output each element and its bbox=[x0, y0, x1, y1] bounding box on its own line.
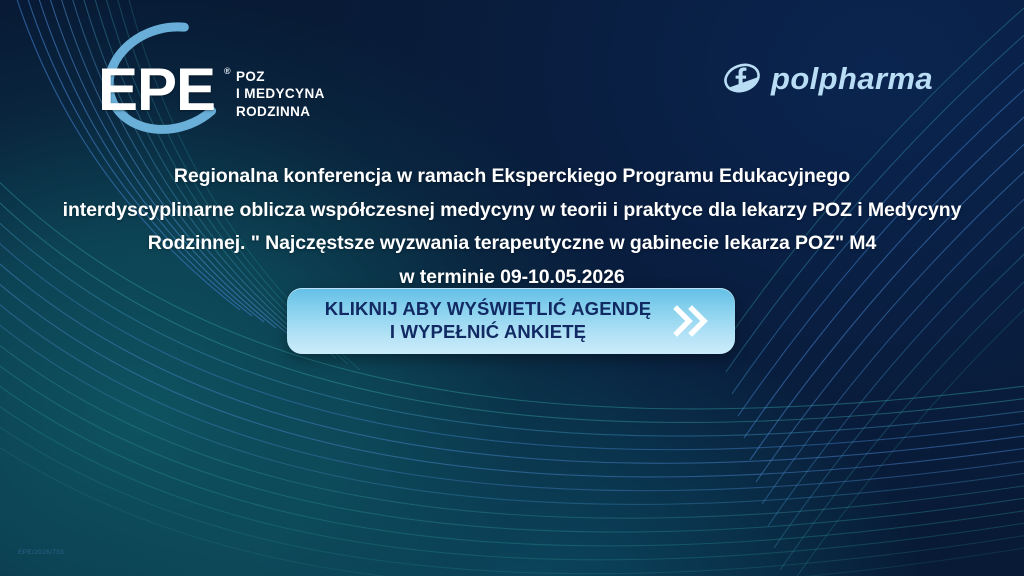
epe-logo: EPE ® POZ I MEDYCYNA RODZINNA bbox=[72, 22, 352, 142]
cta-button-label: KLIKNIJ ABY WYŚWIETLIĆ AGENDĘ I WYPEŁNIĆ… bbox=[309, 298, 667, 343]
headline-line-1: Regionalna konferencja w ramach Eksperck… bbox=[47, 160, 977, 194]
headline-line-2: interdyscyplinarne oblicza współczesnej … bbox=[47, 194, 977, 228]
epe-tagline: POZ I MEDYCYNA RODZINNA bbox=[236, 68, 325, 120]
show-agenda-and-survey-button[interactable]: KLIKNIJ ABY WYŚWIETLIĆ AGENDĘ I WYPEŁNIĆ… bbox=[287, 288, 735, 354]
conference-invitation-slide: EPE ® POZ I MEDYCYNA RODZINNA polpharma … bbox=[0, 0, 1024, 576]
cta-label-line2: I WYPEŁNIĆ ANKIETĘ bbox=[309, 321, 667, 344]
headline-line-3: Rodzinnej. " Najczęstsze wyzwania terape… bbox=[47, 227, 977, 261]
epe-tagline-line1: POZ bbox=[236, 69, 265, 84]
polpharma-logo: polpharma bbox=[722, 58, 933, 98]
material-reference-code: EPE/2026/733 bbox=[18, 549, 64, 556]
polpharma-wordmark: polpharma bbox=[771, 63, 933, 94]
epe-wordmark: EPE bbox=[98, 60, 215, 120]
epe-tagline-line2: I MEDYCYNA bbox=[236, 86, 325, 101]
epe-tagline-line3: RODZINNA bbox=[236, 104, 310, 119]
cta-label-line1: KLIKNIJ ABY WYŚWIETLIĆ AGENDĘ bbox=[325, 298, 651, 319]
double-chevron-right-icon bbox=[667, 300, 719, 342]
registered-trademark-icon: ® bbox=[224, 66, 231, 76]
polpharma-ellipse-mark-icon bbox=[722, 58, 762, 98]
page-title: Regionalna konferencja w ramach Eksperck… bbox=[47, 160, 977, 294]
